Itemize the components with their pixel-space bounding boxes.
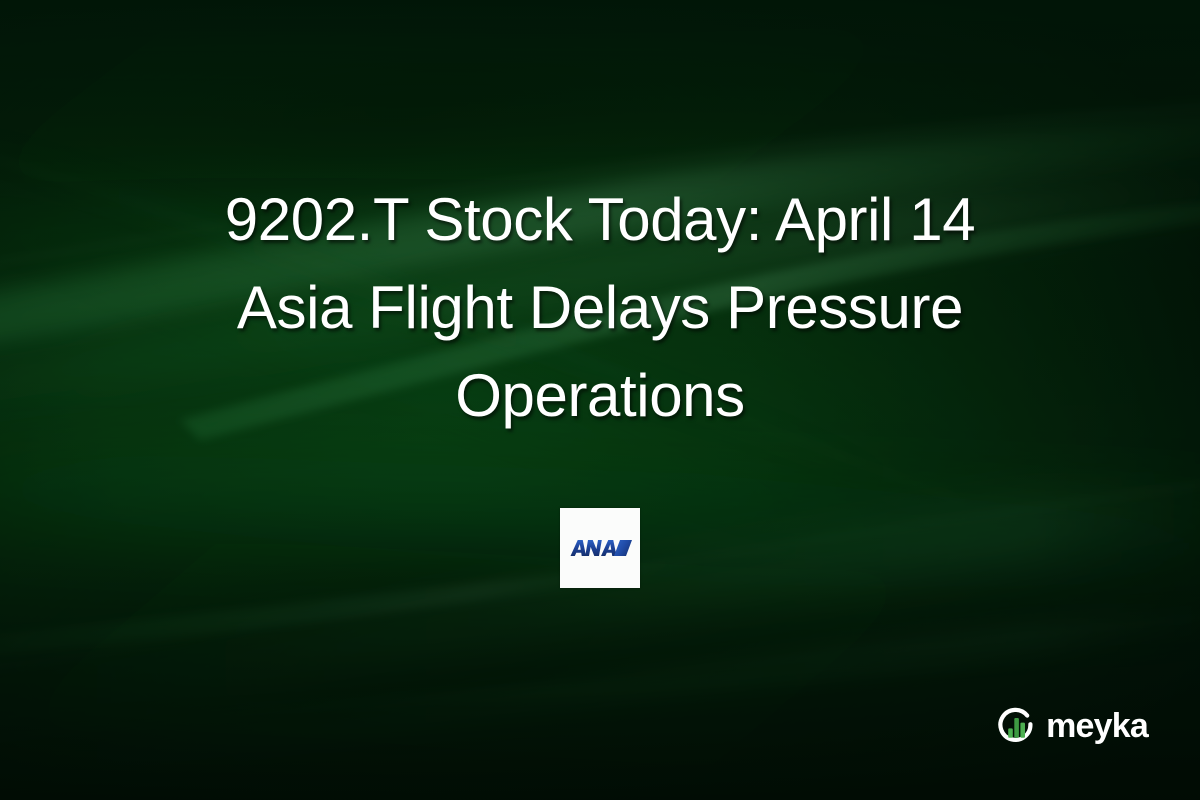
social-share-card: 9202.T Stock Today: April 14 Asia Flight… [0,0,1200,800]
headline: 9202.T Stock Today: April 14 Asia Flight… [0,176,1200,440]
ana-wordmark-icon [568,537,632,559]
ana-logo [560,508,640,588]
headline-line-2: Asia Flight Delays Pressure [70,264,1130,352]
meyka-logo-icon [994,704,1038,748]
meyka-brand-lockup: meyka [994,704,1148,748]
headline-line-1: 9202.T Stock Today: April 14 [70,176,1130,264]
meyka-wordmark: meyka [1046,709,1148,743]
headline-line-3: Operations [70,352,1130,440]
